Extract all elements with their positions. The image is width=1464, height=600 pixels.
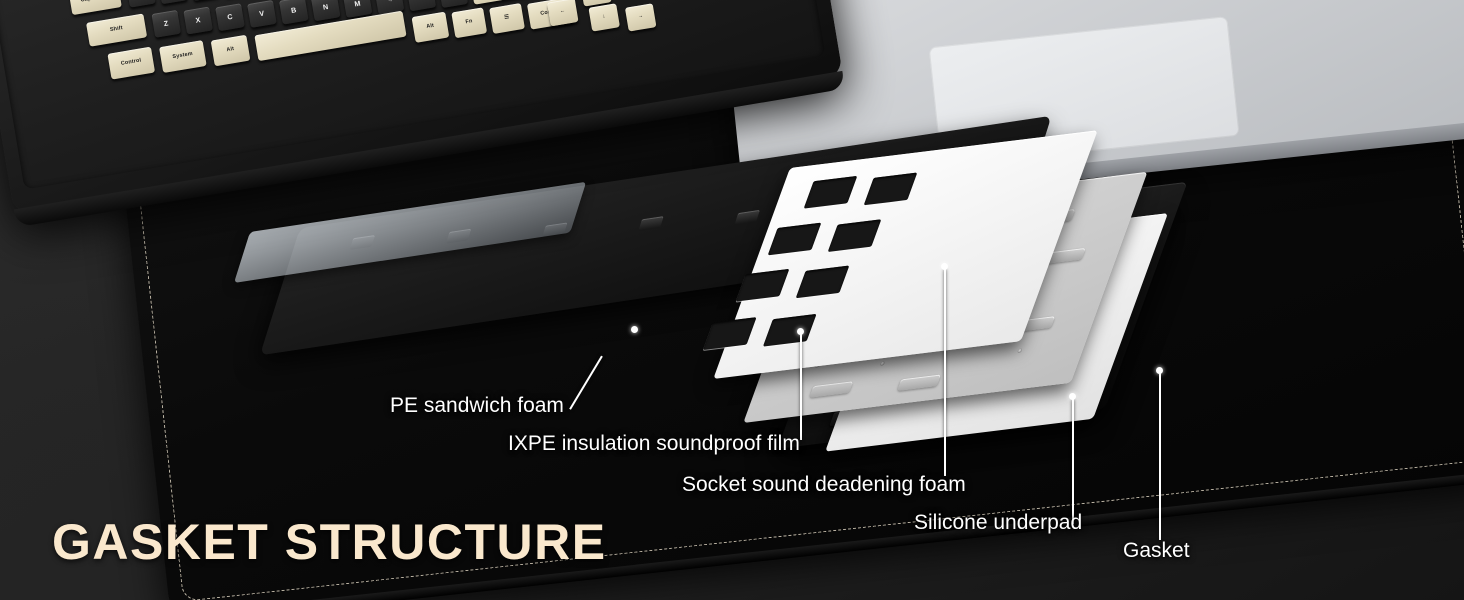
leader-dot-silicone-underpad — [1069, 393, 1076, 400]
callout-gasket: Gasket — [1123, 539, 1190, 563]
key-x[interactable]: X — [183, 7, 213, 35]
leader-dot-gasket — [1156, 367, 1163, 374]
key-control-left[interactable]: Control — [107, 47, 155, 80]
callout-pe-sandwich-foam: PE sandwich foam — [390, 394, 564, 418]
key-system[interactable]: System — [159, 40, 207, 73]
key-arrow-right[interactable]: → — [625, 3, 657, 31]
foam-pad — [809, 381, 853, 397]
key-arrow-down[interactable]: ↓ — [588, 3, 620, 31]
page-title: GASKET STRUCTURE — [52, 513, 607, 571]
key-s[interactable]: S — [158, 0, 188, 4]
key-arrow-left[interactable]: ← — [547, 0, 579, 26]
key-c[interactable]: C — [215, 3, 245, 31]
tray-tab — [735, 210, 760, 225]
key-z[interactable]: Z — [151, 10, 181, 38]
leader-line-ixpe-film — [800, 334, 802, 440]
switch-cutout — [828, 219, 882, 252]
callout-ixpe-insulation-soundproof-film: IXPE insulation soundproof film — [508, 432, 800, 456]
leader-dot-ixpe-film — [797, 328, 804, 335]
switch-cutout — [864, 173, 918, 206]
leader-line-silicone-underpad — [1072, 398, 1074, 524]
switch-cutout — [768, 223, 822, 256]
switch-cutout — [796, 265, 850, 298]
switch-cutout — [804, 176, 858, 209]
leader-line-socket-foam — [944, 268, 946, 476]
key-v[interactable]: V — [247, 0, 277, 28]
key-left-shift[interactable]: Shift — [86, 13, 147, 46]
key-alt-right[interactable]: Alt — [412, 12, 450, 43]
key-alt-left[interactable]: Alt — [211, 35, 251, 67]
key-caps-lock[interactable]: Caps Lock — [69, 0, 122, 15]
key-a[interactable]: A — [126, 0, 156, 8]
foam-hole — [880, 361, 886, 366]
callout-silicone-underpad: Silicone underpad — [914, 511, 1082, 535]
leader-dot-socket-foam — [941, 263, 948, 270]
key-n[interactable]: N — [311, 0, 341, 21]
key-m[interactable]: M — [343, 0, 373, 18]
callout-socket-sound-deadening-foam: Socket sound deadening foam — [682, 473, 966, 497]
leader-line-gasket — [1159, 372, 1161, 540]
leader-dot-pe-sandwich-foam — [631, 326, 638, 333]
key-fn[interactable]: Fn — [451, 7, 487, 38]
foam-pad — [897, 374, 941, 390]
key-d[interactable]: D — [190, 0, 220, 1]
menu-icon[interactable]: ☰ — [489, 3, 525, 34]
key-slash[interactable]: ?/ — [438, 0, 468, 8]
key-period[interactable]: >. — [407, 0, 437, 11]
foam-hole — [1017, 348, 1023, 353]
switch-cutout — [763, 314, 817, 347]
product-hero-image: N M <, >. ?/ }] return command option sh… — [0, 0, 1464, 600]
tray-tab — [638, 216, 663, 231]
key-b[interactable]: B — [279, 0, 309, 25]
